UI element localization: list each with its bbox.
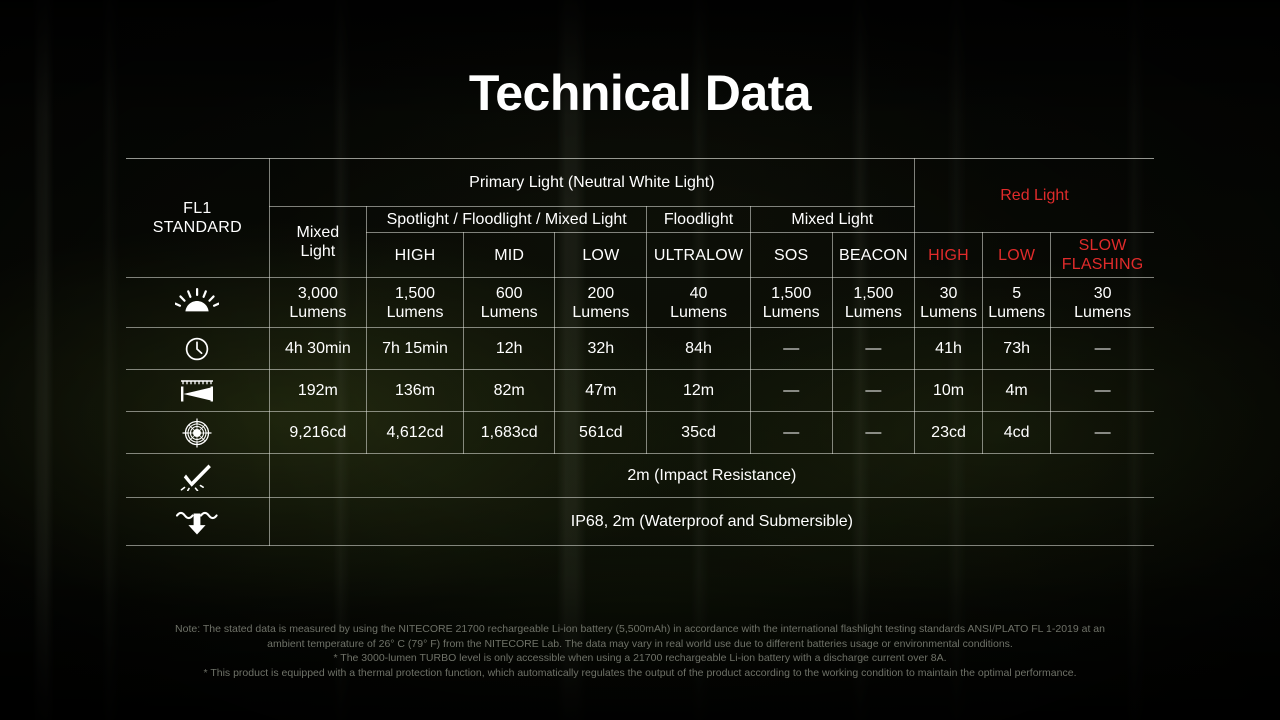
value-number: 3,000 [272, 284, 364, 303]
mode-header-low: LOW [555, 233, 647, 278]
mode-header-red-low: LOW [983, 233, 1051, 278]
cell-intensity-red-high: 23cd [914, 412, 982, 454]
beam-distance-icon [126, 370, 269, 412]
value-unit: Lumens [1053, 303, 1152, 322]
peak-intensity-icon [126, 412, 269, 454]
cell-intensity-sos: — [750, 412, 832, 454]
value-number: 1,500 [753, 284, 830, 303]
mode-header-mid: MID [464, 233, 555, 278]
value-number: 30 [1053, 284, 1152, 303]
mode-header-line1: SLOW [1053, 236, 1152, 255]
value-unit: Lumens [917, 303, 980, 322]
cell-intensity-high: 4,612cd [366, 412, 463, 454]
value-unit: Lumens [649, 303, 747, 322]
cell-distance-red-low: 4m [983, 370, 1051, 412]
value-unit: Lumens [753, 303, 830, 322]
mode-header-line2: FLASHING [1053, 255, 1152, 274]
cell-intensity-beacon: — [832, 412, 914, 454]
waterproof-value: IP68, 2m (Waterproof and Submersible) [269, 498, 1154, 546]
value-number: 5 [985, 284, 1048, 303]
footnotes: Note: The stated data is measured by usi… [0, 622, 1280, 680]
subgroup-line2: Light [272, 242, 364, 261]
mode-header-high: HIGH [366, 233, 463, 278]
corner-fl1-standard: FL1 STANDARD [126, 159, 269, 278]
footnote-line-1: Note: The stated data is measured by usi… [94, 622, 1186, 637]
cell-runtime-ultralow: 84h [647, 328, 750, 370]
subgroup-floodlight: Floodlight [647, 207, 750, 233]
cell-distance-red-slow-flashing: — [1051, 370, 1154, 412]
value-number: 600 [466, 284, 552, 303]
corner-label-line2: STANDARD [128, 218, 267, 237]
cell-runtime-beacon: — [832, 328, 914, 370]
subgroup-spotlight-floodlight-mixed: Spotlight / Floodlight / Mixed Light [366, 207, 647, 233]
value-number: 1,500 [835, 284, 912, 303]
cell-lumens-mid: 600 Lumens [464, 278, 555, 328]
cell-runtime-high: 7h 15min [366, 328, 463, 370]
impact-resistance-icon [126, 454, 269, 498]
technical-data-table: FL1 STANDARD Primary Light (Neutral Whit… [126, 158, 1154, 546]
subgroup-mixed-light-turbo: Mixed Light [269, 207, 366, 278]
clock-icon [126, 328, 269, 370]
value-unit: Lumens [369, 303, 461, 322]
waterproof-icon [126, 498, 269, 546]
table-row: 9,216cd 4,612cd 1,683cd 561cd 35cd — — 2… [126, 412, 1154, 454]
value-number: 40 [649, 284, 747, 303]
value-unit: Lumens [557, 303, 644, 322]
impact-resistance-value: 2m (Impact Resistance) [269, 454, 1154, 498]
subgroup-mixed-light: Mixed Light [750, 207, 914, 233]
cell-distance-mid: 82m [464, 370, 555, 412]
footnote-line-3: * The 3000-lumen TURBO level is only acc… [94, 651, 1186, 666]
cell-lumens-high: 1,500 Lumens [366, 278, 463, 328]
table-row-waterproof: IP68, 2m (Waterproof and Submersible) [126, 498, 1154, 546]
cell-lumens-sos: 1,500 Lumens [750, 278, 832, 328]
cell-distance-ultralow: 12m [647, 370, 750, 412]
cell-distance-high: 136m [366, 370, 463, 412]
value-unit: Lumens [835, 303, 912, 322]
cell-intensity-mid: 1,683cd [464, 412, 555, 454]
cell-lumens-red-low: 5 Lumens [983, 278, 1051, 328]
value-unit: Lumens [272, 303, 364, 322]
cell-distance-beacon: — [832, 370, 914, 412]
cell-intensity-ultralow: 35cd [647, 412, 750, 454]
cell-distance-low: 47m [555, 370, 647, 412]
value-unit: Lumens [466, 303, 552, 322]
sunburst-icon [126, 278, 269, 328]
group-header-red-light: Red Light [914, 159, 1154, 233]
cell-runtime-red-high: 41h [914, 328, 982, 370]
value-number: 30 [917, 284, 980, 303]
group-header-primary-light: Primary Light (Neutral White Light) [269, 159, 914, 207]
cell-intensity-low: 561cd [555, 412, 647, 454]
cell-lumens-low: 200 Lumens [555, 278, 647, 328]
table-row: 192m 136m 82m 47m 12m — — 10m 4m — [126, 370, 1154, 412]
footnote-line-2: ambient temperature of 26° C (79° F) fro… [94, 637, 1186, 652]
cell-runtime-mid: 12h [464, 328, 555, 370]
cell-runtime-red-low: 73h [983, 328, 1051, 370]
cell-lumens-red-high: 30 Lumens [914, 278, 982, 328]
mode-header-red-slow-flashing: SLOW FLASHING [1051, 233, 1154, 278]
cell-distance-sos: — [750, 370, 832, 412]
mode-header-ultralow: ULTRALOW [647, 233, 750, 278]
page-title: Technical Data [0, 62, 1280, 124]
value-number: 200 [557, 284, 644, 303]
technical-data-slide: Technical Data FL1 STANDARD Primary Ligh… [0, 0, 1280, 720]
cell-intensity-red-slow-flashing: — [1051, 412, 1154, 454]
mode-header-sos: SOS [750, 233, 832, 278]
corner-label-line1: FL1 [128, 199, 267, 218]
cell-lumens-ultralow: 40 Lumens [647, 278, 750, 328]
mode-header-beacon: BEACON [832, 233, 914, 278]
value-number: 1,500 [369, 284, 461, 303]
mode-header-red-high: HIGH [914, 233, 982, 278]
cell-runtime-sos: — [750, 328, 832, 370]
cell-distance-red-high: 10m [914, 370, 982, 412]
table-row: 3,000 Lumens 1,500 Lumens 600 Lumens 200… [126, 278, 1154, 328]
table-row-impact-resistance: 2m (Impact Resistance) [126, 454, 1154, 498]
cell-lumens-beacon: 1,500 Lumens [832, 278, 914, 328]
cell-runtime-low: 32h [555, 328, 647, 370]
table-row: 4h 30min 7h 15min 12h 32h 84h — — 41h 73… [126, 328, 1154, 370]
cell-distance-turbo: 192m [269, 370, 366, 412]
cell-lumens-turbo: 3,000 Lumens [269, 278, 366, 328]
cell-intensity-red-low: 4cd [983, 412, 1051, 454]
cell-runtime-turbo: 4h 30min [269, 328, 366, 370]
cell-intensity-turbo: 9,216cd [269, 412, 366, 454]
table-group-header-row: FL1 STANDARD Primary Light (Neutral Whit… [126, 159, 1154, 207]
cell-runtime-red-slow-flashing: — [1051, 328, 1154, 370]
footnote-line-4: * This product is equipped with a therma… [94, 666, 1186, 681]
subgroup-line1: Mixed [272, 223, 364, 242]
cell-lumens-red-slow-flashing: 30 Lumens [1051, 278, 1154, 328]
value-unit: Lumens [985, 303, 1048, 322]
